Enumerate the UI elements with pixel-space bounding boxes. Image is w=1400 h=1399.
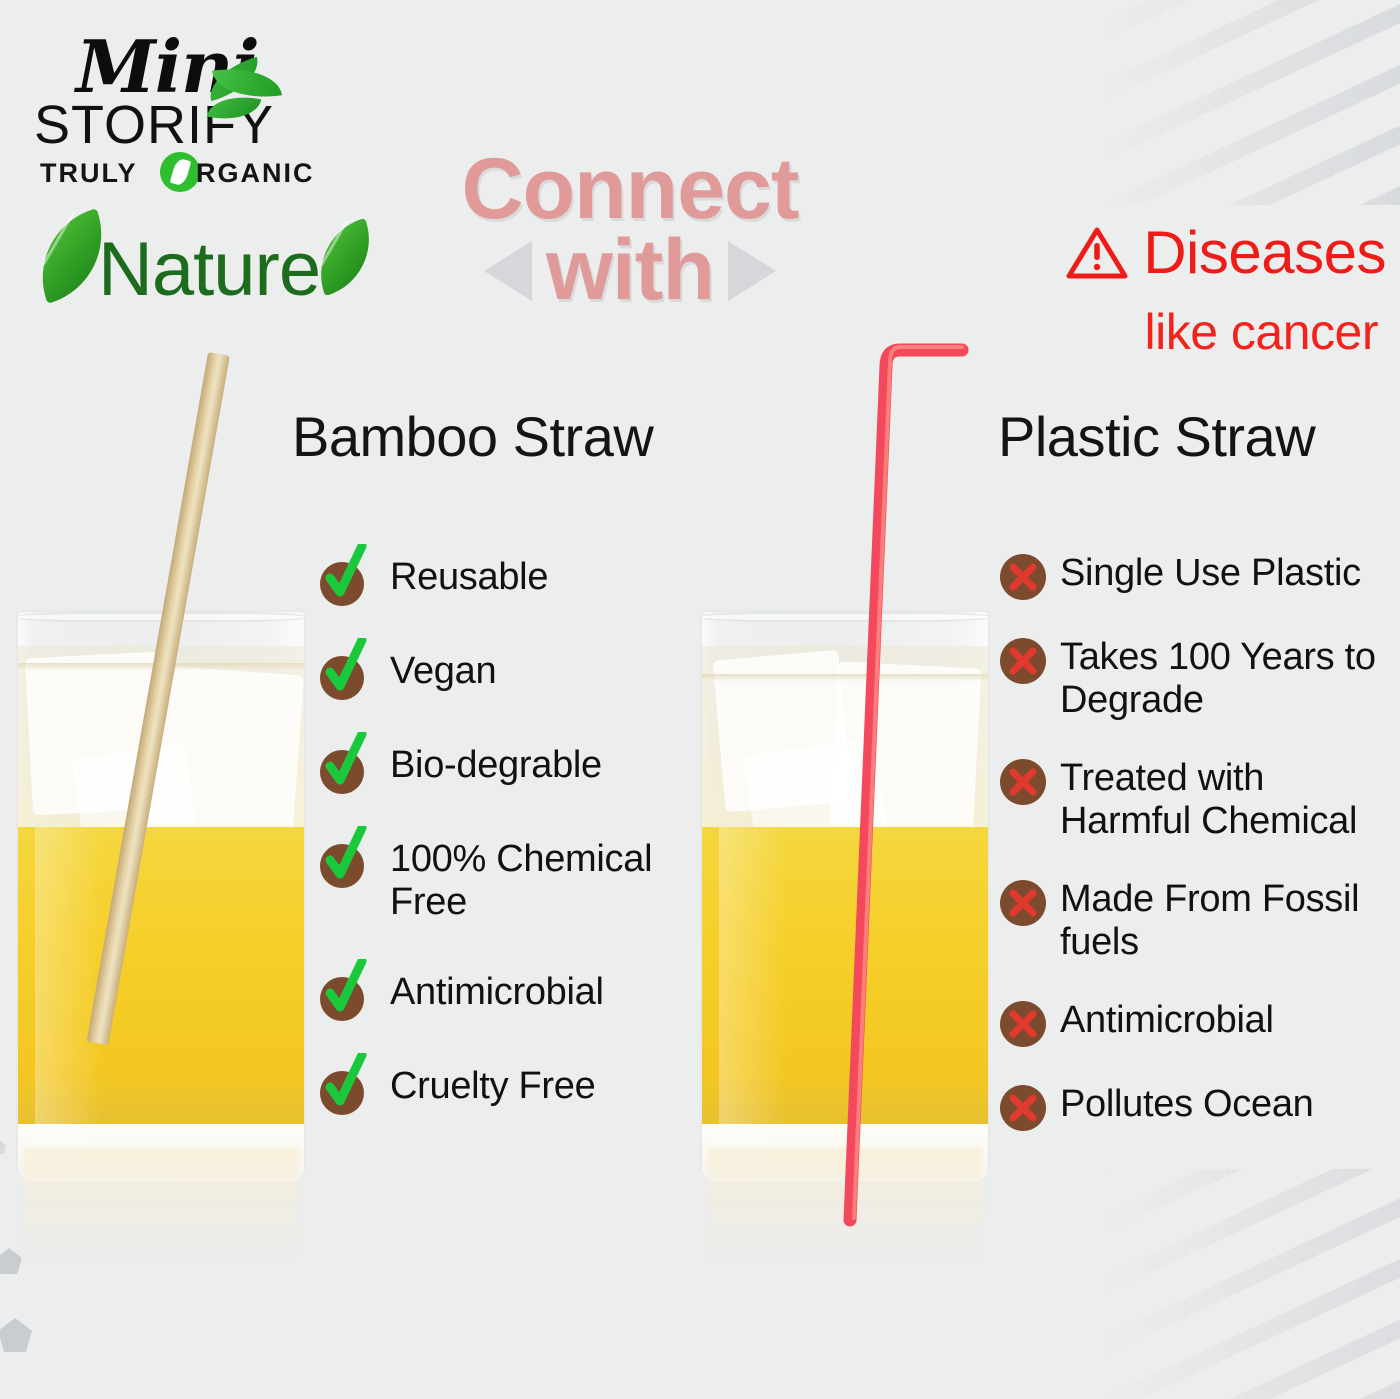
list-item: Vegan	[318, 648, 698, 696]
list-item: 100% Chemical Free	[318, 836, 698, 923]
like-cancer-label: like cancer	[966, 303, 1386, 361]
list-item-label: Single Use Plastic	[1060, 550, 1361, 595]
check-circle-icon	[318, 836, 366, 884]
list-item: Pollutes Ocean	[1000, 1081, 1400, 1131]
logo-tagline-left: TRULY	[40, 158, 138, 189]
decorative-polygon	[0, 1318, 32, 1352]
list-item-label: Vegan	[380, 648, 496, 693]
list-item-label: Reusable	[380, 554, 548, 599]
check-circle-icon	[318, 648, 366, 696]
cross-circle-icon	[1000, 554, 1046, 600]
plastic-feature-list: Single Use Plastic Takes 100 Years to De…	[1000, 550, 1400, 1165]
check-circle-icon	[318, 742, 366, 790]
list-item-label: 100% Chemical Free	[380, 836, 698, 923]
cross-circle-icon	[1000, 759, 1046, 805]
list-item: Cruelty Free	[318, 1063, 698, 1111]
corner-stripe-pattern-top-right	[1100, 0, 1400, 205]
list-item: Single Use Plastic	[1000, 550, 1400, 600]
connect-line-1: Connect	[410, 150, 850, 229]
connect-line-2: with	[546, 231, 714, 310]
cross-circle-icon	[1000, 1001, 1046, 1047]
list-item: Antimicrobial	[318, 969, 698, 1017]
corner-stripe-pattern-bottom-right	[1100, 1169, 1400, 1399]
brand-logo: Mini STORIFY TRULY RGANIC	[24, 18, 324, 178]
glass-reflection	[24, 1148, 298, 1266]
leaf-badge-icon	[160, 152, 200, 192]
plastic-straw-glass-image	[700, 540, 990, 1260]
bamboo-feature-list: Reusable Vegan Bio-degrable 100% Chemica…	[318, 554, 698, 1157]
bamboo-straw-glass-image	[16, 560, 306, 1260]
list-item: Bio-degrable	[318, 742, 698, 790]
triangle-right-icon	[728, 241, 776, 301]
nature-headline: Nature	[20, 212, 390, 332]
list-item-label: Made From Fossil fuels	[1060, 876, 1400, 963]
list-item-label: Antimicrobial	[380, 969, 604, 1014]
nature-label: Nature	[98, 226, 320, 313]
list-item-label: Bio-degrable	[380, 742, 602, 787]
cross-circle-icon	[1000, 638, 1046, 684]
cross-circle-icon	[1000, 1085, 1046, 1131]
list-item: Reusable	[318, 554, 698, 602]
list-item-label: Antimicrobial	[1060, 997, 1274, 1042]
list-item-label: Pollutes Ocean	[1060, 1081, 1314, 1126]
list-item-label: Takes 100 Years to Degrade	[1060, 634, 1400, 721]
plastic-straw-title: Plastic Straw	[998, 404, 1315, 469]
diseases-label: Diseases	[1143, 218, 1386, 287]
logo-tagline-right: RGANIC	[196, 158, 315, 189]
warning-triangle-icon	[1065, 225, 1129, 281]
diseases-headline: Diseases like cancer	[966, 218, 1386, 361]
check-circle-icon	[318, 1063, 366, 1111]
plastic-straw-icon	[700, 320, 990, 1280]
check-circle-icon	[318, 554, 366, 602]
triangle-left-icon	[484, 241, 532, 301]
bamboo-straw-title: Bamboo Straw	[292, 404, 653, 469]
list-item: Treated with Harmful Chemical	[1000, 755, 1400, 842]
list-item-label: Cruelty Free	[380, 1063, 595, 1108]
list-item: Made From Fossil fuels	[1000, 876, 1400, 963]
list-item: Antimicrobial	[1000, 997, 1400, 1047]
cross-circle-icon	[1000, 880, 1046, 926]
connect-with-headline: Connect with	[410, 150, 850, 330]
decorative-polygon	[0, 1140, 6, 1154]
list-item-label: Treated with Harmful Chemical	[1060, 755, 1400, 842]
check-circle-icon	[318, 969, 366, 1017]
list-item: Takes 100 Years to Degrade	[1000, 634, 1400, 721]
